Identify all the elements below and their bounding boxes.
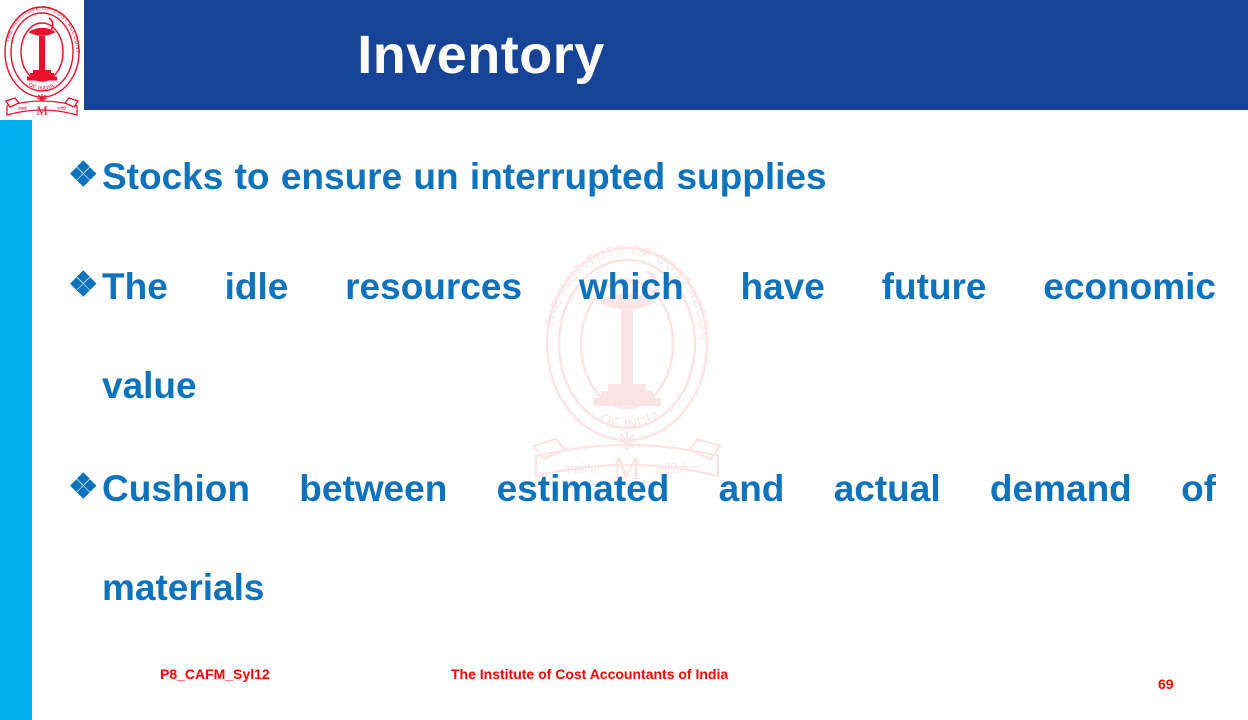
bullet-diamond-icon: ❖ <box>68 268 102 304</box>
bullet-item-2-line-2: value <box>102 367 1216 404</box>
bullet-item-3-line-2: materials <box>102 569 1216 606</box>
left-accent-strip <box>0 120 32 720</box>
bullet-item-1: ❖ Stocks to ensure un interrupted suppli… <box>68 158 1216 195</box>
bullet-item-3: ❖ Cushion between estimated and actual d… <box>68 470 1216 606</box>
bullet-item-1-line-1: Stocks to ensure un interrupted supplies <box>102 158 1216 195</box>
svg-text:M: M <box>36 103 48 118</box>
svg-text:OF INDIA: OF INDIA <box>27 82 56 92</box>
page-number: 69 <box>1158 676 1174 692</box>
presentation-slide: Inventory <box>0 0 1248 720</box>
icai-logo-icon: M तमसो ज्योति THE INSTITUTE OF COST ACCO… <box>2 2 82 120</box>
bullet-diamond-icon: ❖ <box>68 470 102 506</box>
bullet-item-2: ❖ The idle resources which have future e… <box>68 268 1216 404</box>
svg-text:ज्योति: ज्योति <box>57 106 67 111</box>
slide-body: ❖ Stocks to ensure un interrupted suppli… <box>68 140 1216 640</box>
bullet-diamond-icon: ❖ <box>68 158 102 194</box>
footer-subject-code: P8_CAFM_Syl12 <box>160 666 270 682</box>
footer-organization: The Institute of Cost Accountants of Ind… <box>451 666 728 682</box>
page-title: Inventory <box>84 0 1248 110</box>
svg-text:तमसो: तमसो <box>18 106 28 111</box>
bullet-item-3-line-1: Cushion between estimated and actual dem… <box>102 470 1216 507</box>
bullet-item-2-line-1: The idle resources which have future eco… <box>102 268 1216 305</box>
